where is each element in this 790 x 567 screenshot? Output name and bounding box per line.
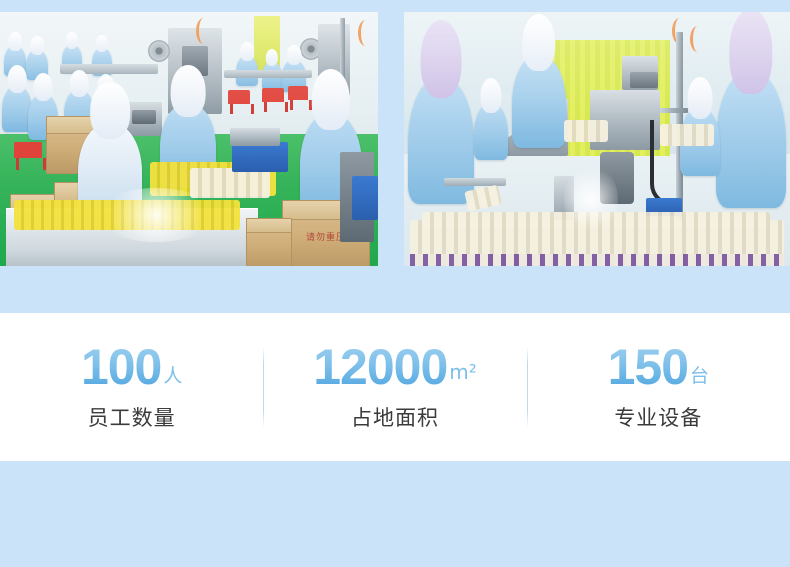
stat-equipment-value: 150 台 (527, 342, 790, 392)
stat-area-value: 12000 m² (263, 342, 526, 392)
stat-area-number: 12000 (313, 342, 447, 392)
stat-area-unit: m² (449, 362, 477, 382)
stat-area: 12000 m² 占地面积 (263, 342, 526, 432)
stat-equipment-unit: 台 (690, 367, 709, 386)
stat-equipment-number: 150 (608, 342, 688, 392)
photo-band: 请勿重压 (0, 12, 790, 266)
factory-packaging-line-photo: 请勿重压 (0, 12, 378, 266)
stat-employees-unit: 人 (163, 367, 182, 386)
company-strength-page: 请勿重压 (0, 0, 790, 567)
stat-employees-value: 100 人 (0, 342, 263, 392)
factory-filling-machine-photo (404, 12, 790, 266)
stat-employees-label: 员工数量 (0, 402, 263, 432)
stat-employees: 100 人 员工数量 (0, 342, 263, 432)
bottom-background-fill (0, 461, 790, 567)
stats-strip: 100 人 员工数量 12000 m² 占地面积 150 台 专业设备 (0, 313, 790, 461)
stat-equipment: 150 台 专业设备 (527, 342, 790, 432)
stat-area-label: 占地面积 (263, 402, 526, 432)
stat-equipment-label: 专业设备 (527, 402, 790, 432)
stat-employees-number: 100 (81, 342, 161, 392)
